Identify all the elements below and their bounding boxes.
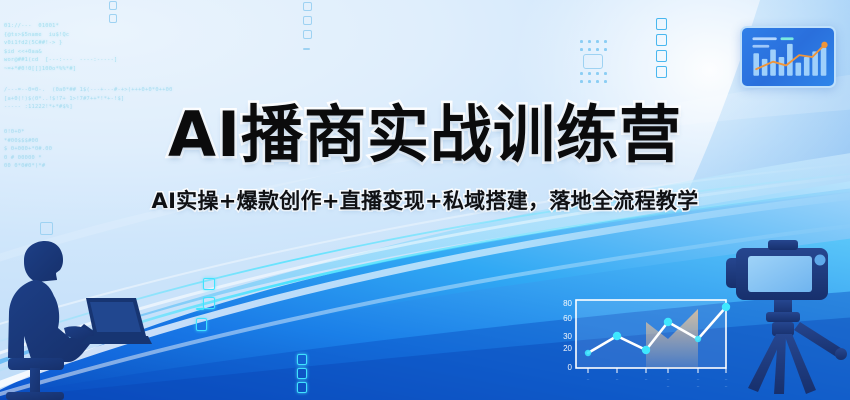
decor-square (303, 2, 312, 11)
decor-code-text-1: 01://--- 01001* {@ts>$5name iu$!Qc v0i1f… (4, 22, 264, 74)
bar-chart-icon (740, 26, 836, 88)
person-at-laptop-silhouette (2, 240, 154, 400)
decor-square (297, 382, 307, 393)
decor-square (109, 1, 117, 10)
decor-square (109, 14, 117, 23)
person-laptop-glyph (2, 240, 154, 400)
decor-square (656, 18, 667, 30)
headline-container: AI播商实战训练营 (0, 98, 850, 172)
decor-square (297, 368, 307, 379)
mini-line-chart-svg: 80 60 30 20 0 (548, 296, 734, 400)
svg-text:60: 60 (563, 314, 572, 323)
svg-text:80: 80 (563, 299, 572, 308)
svg-text:··: ·· (666, 384, 670, 390)
svg-text:··: ·· (696, 384, 700, 390)
svg-text:··: ·· (724, 384, 728, 390)
bar-chart-icon-glyph (742, 28, 834, 86)
svg-text:30: 30 (563, 332, 572, 341)
decor-square (656, 66, 667, 78)
svg-text:··: ·· (644, 377, 648, 383)
mini-line-chart: 80 60 30 20 0 (548, 296, 734, 400)
banner-title: AI播商实战训练营 (168, 98, 682, 172)
chart-y-tick-labels: 80 60 30 20 0 (563, 299, 572, 372)
decor-square (303, 16, 312, 25)
decor-square (297, 354, 307, 365)
decor-square (40, 222, 53, 235)
decor-dot-grid (580, 40, 610, 86)
decor-square (203, 278, 215, 290)
decor-square (656, 34, 667, 46)
chart-x-tick-labels: ·· ·· ·· ···· ···· ···· (586, 377, 728, 390)
subheadline-container: AI实操+爆款创作+直播变现+私域搭建，落地全流程教学 (0, 186, 850, 216)
decor-square (656, 50, 667, 62)
promo-banner: 01://--- 01001* {@ts>$5name iu$!Qc v0i1f… (0, 0, 850, 400)
svg-text:20: 20 (563, 344, 572, 353)
decor-square (303, 30, 312, 39)
svg-text:··: ·· (666, 377, 670, 383)
decor-square (303, 48, 310, 50)
decor-square (203, 297, 215, 309)
banner-subtitle: AI实操+爆款创作+直播变现+私域搭建，落地全流程教学 (152, 186, 699, 216)
svg-text:··: ·· (724, 377, 728, 383)
decor-square (196, 308, 204, 310)
decor-square (196, 318, 207, 331)
svg-text:··: ·· (696, 377, 700, 383)
svg-text:0: 0 (568, 363, 573, 372)
svg-text:··: ·· (586, 377, 590, 383)
svg-text:··: ·· (615, 377, 619, 383)
